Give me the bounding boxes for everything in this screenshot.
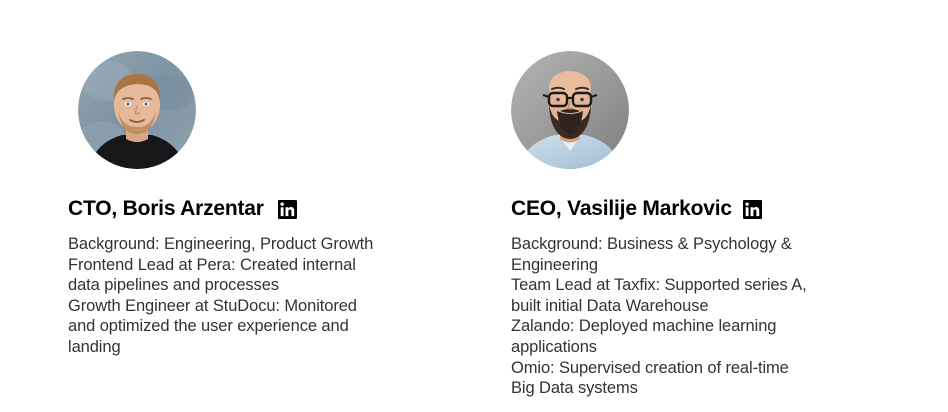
bio-line: Growth Engineer at StuDocu: Monitored	[68, 296, 413, 317]
bio-line: applications	[511, 337, 856, 358]
profile-headline: CEO, Vasilije Markovic	[511, 196, 762, 222]
bio-line: Zalando: Deployed machine learning	[511, 316, 856, 337]
bio-line: Background: Engineering, Product Growth	[68, 234, 413, 255]
bio-line: landing	[68, 337, 413, 358]
avatar	[511, 51, 629, 169]
bio-line: Background: Business & Psychology &	[511, 234, 856, 255]
bio-line: Omio: Supervised creation of real-time	[511, 358, 856, 379]
bio-line: Team Lead at Taxfix: Supported series A,	[511, 275, 856, 296]
bio-line: Frontend Lead at Pera: Created internal	[68, 255, 413, 276]
profile-bio: Background: Engineering, Product Growth …	[68, 234, 413, 358]
profile-headline: CTO, Boris Arzentar	[68, 196, 297, 222]
bio-line: Engineering	[511, 255, 856, 276]
profile-name: CEO, Vasilije Markovic	[511, 196, 732, 222]
bio-line: data pipelines and processes	[68, 275, 413, 296]
linkedin-icon[interactable]	[743, 200, 762, 219]
profile-name: CTO, Boris Arzentar	[68, 196, 264, 222]
team-bios-page: CTO, Boris Arzentar Background: Engineer…	[0, 0, 948, 412]
linkedin-icon[interactable]	[278, 200, 297, 219]
bio-line: built initial Data Warehouse	[511, 296, 856, 317]
avatar	[78, 51, 196, 169]
profile-bio: Background: Business & Psychology & Engi…	[511, 234, 856, 399]
bio-line: Big Data systems	[511, 378, 856, 399]
bio-line: and optimized the user experience and	[68, 316, 413, 337]
